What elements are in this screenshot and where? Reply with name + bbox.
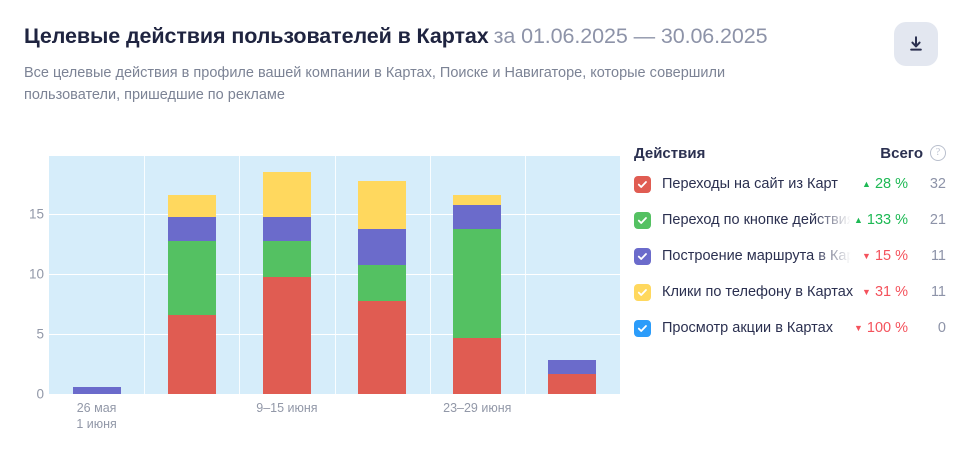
legend-delta: ▲28 % bbox=[862, 176, 908, 192]
bar-segment[interactable] bbox=[263, 241, 311, 277]
bar-stack[interactable] bbox=[73, 387, 121, 394]
legend-row[interactable]: Клики по телефону в Картах▼31 %11 bbox=[634, 274, 946, 310]
bar-segment[interactable] bbox=[168, 195, 216, 218]
x-axis: 26 мая1 июня9–15 июня23–29 июня bbox=[49, 400, 620, 446]
arrow-up-icon: ▲ bbox=[862, 180, 871, 189]
legend-delta-value: 28 % bbox=[875, 176, 908, 192]
arrow-down-icon: ▼ bbox=[862, 288, 871, 297]
legend-row[interactable]: Переход по кнопке действия и▲133 %21 bbox=[634, 202, 946, 238]
legend-checkbox[interactable] bbox=[634, 212, 651, 229]
page-title: Целевые действия пользователей в Картахз… bbox=[24, 22, 864, 50]
bar-segment[interactable] bbox=[358, 301, 406, 394]
legend-delta: ▼31 % bbox=[862, 284, 908, 300]
bar-segment[interactable] bbox=[453, 229, 501, 337]
legend-row[interactable]: Переходы на сайт из Карт▲28 %32 bbox=[634, 166, 946, 202]
legend-label-wrap: Переходы на сайт из Карт bbox=[662, 175, 838, 193]
legend-label: Переходы на сайт из Карт bbox=[662, 176, 838, 192]
legend-total-value: 11 bbox=[916, 284, 946, 300]
bar-segment[interactable] bbox=[453, 205, 501, 229]
page-title-period: за 01.06.2025 — 30.06.2025 bbox=[494, 24, 768, 48]
legend-header-total: Всего bbox=[880, 145, 923, 162]
bar-stack[interactable] bbox=[548, 360, 596, 394]
y-axis-tick-label: 5 bbox=[4, 326, 44, 341]
legend-delta-value: 133 % bbox=[867, 212, 908, 228]
bar-segment[interactable] bbox=[358, 181, 406, 229]
bar-segment[interactable] bbox=[453, 195, 501, 206]
bar-segment[interactable] bbox=[548, 374, 596, 394]
legend-rows: Переходы на сайт из Карт▲28 %32Переход п… bbox=[634, 166, 946, 346]
legend-header: Действия Всего ? bbox=[634, 140, 946, 166]
legend-row[interactable]: Построение маршрута в Картах▼15 %11 bbox=[634, 238, 946, 274]
page-subtitle: Все целевые действия в профиле вашей ком… bbox=[24, 62, 814, 106]
x-axis-tick-line1: 23–29 июня bbox=[443, 401, 511, 415]
gridline-vertical bbox=[335, 156, 336, 394]
x-axis-tick-label: 23–29 июня bbox=[443, 400, 511, 416]
legend-row-metrics: ▲133 %21 bbox=[854, 202, 946, 238]
legend-label: Клики по телефону в Картах bbox=[662, 284, 853, 300]
x-axis-tick-label: 26 мая1 июня bbox=[76, 400, 116, 432]
legend-delta: ▲133 % bbox=[854, 212, 908, 228]
bar-segment[interactable] bbox=[263, 172, 311, 218]
bar-segment[interactable] bbox=[548, 360, 596, 373]
bar-stack[interactable] bbox=[168, 194, 216, 394]
bar-stack[interactable] bbox=[453, 194, 501, 394]
x-axis-tick-line1: 9–15 июня bbox=[256, 401, 317, 415]
legend-delta: ▼15 % bbox=[862, 248, 908, 264]
bar-stack[interactable] bbox=[358, 181, 406, 394]
legend-checkbox[interactable] bbox=[634, 248, 651, 265]
legend-label-wrap: Просмотр акции в Картах bbox=[662, 319, 833, 337]
bar-segment[interactable] bbox=[358, 229, 406, 265]
legend-row-metrics: ▼31 %11 bbox=[862, 274, 946, 310]
bar-segment[interactable] bbox=[168, 217, 216, 241]
chart: 051015 26 мая1 июня9–15 июня23–29 июня bbox=[0, 140, 640, 460]
help-icon[interactable]: ? bbox=[930, 145, 946, 161]
legend-delta-value: 15 % bbox=[875, 248, 908, 264]
legend-label: Просмотр акции в Картах bbox=[662, 320, 833, 336]
legend-total-value: 11 bbox=[916, 248, 946, 264]
arrow-up-icon: ▲ bbox=[854, 216, 863, 225]
gridline-vertical bbox=[430, 156, 431, 394]
y-axis: 051015 bbox=[0, 156, 44, 394]
legend-delta: ▼100 % bbox=[854, 320, 908, 336]
legend-delta-value: 31 % bbox=[875, 284, 908, 300]
legend-label: Построение маршрута в Картах bbox=[662, 248, 860, 264]
arrow-down-icon: ▼ bbox=[862, 252, 871, 261]
bar-segment[interactable] bbox=[168, 241, 216, 314]
bar-segment[interactable] bbox=[358, 265, 406, 301]
x-axis-tick-line1: 26 мая bbox=[77, 401, 117, 415]
x-axis-tick-label: 9–15 июня bbox=[256, 400, 317, 416]
legend-row-metrics: ▲28 %32 bbox=[862, 166, 946, 202]
legend-label-wrap: Переход по кнопке действия и bbox=[662, 211, 860, 229]
legend-checkbox[interactable] bbox=[634, 176, 651, 193]
legend: Действия Всего ? Переходы на сайт из Кар… bbox=[634, 140, 946, 346]
legend-label-wrap: Построение маршрута в Картах bbox=[662, 247, 860, 265]
legend-header-right: Всего ? bbox=[880, 140, 946, 166]
legend-row-metrics: ▼100 %0 bbox=[854, 310, 946, 346]
bar-segment[interactable] bbox=[453, 338, 501, 394]
legend-total-value: 32 bbox=[916, 176, 946, 192]
legend-checkbox[interactable] bbox=[634, 320, 651, 337]
legend-delta-value: 100 % bbox=[867, 320, 908, 336]
gridline-vertical bbox=[144, 156, 145, 394]
download-icon bbox=[907, 35, 925, 53]
gridline-vertical bbox=[239, 156, 240, 394]
legend-row-metrics: ▼15 %11 bbox=[862, 238, 946, 274]
legend-total-value: 0 bbox=[916, 320, 946, 336]
page-title-main: Целевые действия пользователей в Картах bbox=[24, 24, 489, 48]
bar-stack[interactable] bbox=[263, 172, 311, 394]
plot-area bbox=[49, 156, 620, 394]
x-axis-tick-line2: 1 июня bbox=[76, 416, 116, 432]
legend-row[interactable]: Просмотр акции в Картах▼100 %0 bbox=[634, 310, 946, 346]
arrow-down-icon: ▼ bbox=[854, 324, 863, 333]
y-axis-tick-label: 0 bbox=[4, 387, 44, 402]
legend-label-wrap: Клики по телефону в Картах bbox=[662, 283, 853, 301]
bar-segment[interactable] bbox=[263, 217, 311, 241]
report-card: Целевые действия пользователей в Картахз… bbox=[0, 0, 960, 460]
legend-header-actions: Действия bbox=[634, 145, 705, 162]
legend-label: Переход по кнопке действия и bbox=[662, 212, 860, 228]
download-button[interactable] bbox=[894, 22, 938, 66]
bar-segment[interactable] bbox=[263, 277, 311, 394]
legend-total-value: 21 bbox=[916, 212, 946, 228]
y-axis-tick-label: 15 bbox=[4, 206, 44, 221]
legend-checkbox[interactable] bbox=[634, 284, 651, 301]
bar-segment[interactable] bbox=[168, 315, 216, 394]
gridline-vertical bbox=[525, 156, 526, 394]
header: Целевые действия пользователей в Картахз… bbox=[24, 22, 864, 106]
bar-segment[interactable] bbox=[73, 387, 121, 394]
y-axis-tick-label: 10 bbox=[4, 266, 44, 281]
